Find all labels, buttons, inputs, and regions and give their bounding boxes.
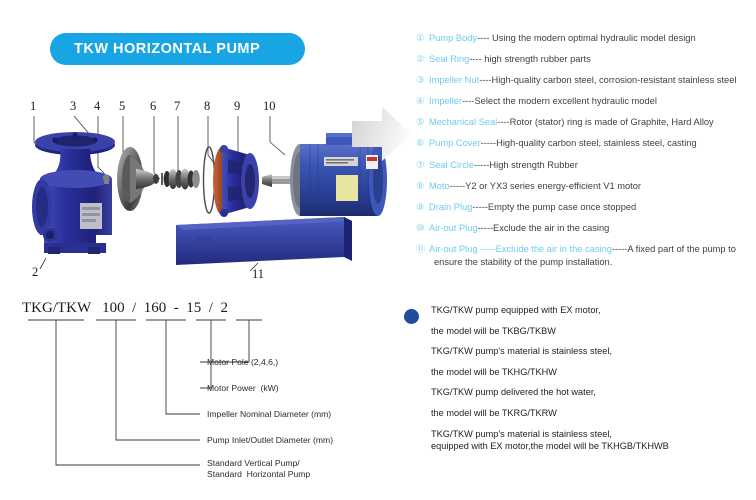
bullet-icon xyxy=(404,309,419,324)
feature-name: Pump Body xyxy=(429,33,477,44)
model-leader-label: Motor Pole (2,4,6,) xyxy=(207,357,278,369)
mechanical-seal-part xyxy=(161,169,200,190)
feature-number: ⑩ xyxy=(416,223,429,234)
feature-desc: ----Select the modern excellent hydrauli… xyxy=(462,96,657,107)
pump-spec-sheet: TKW HORIZONTAL PUMP xyxy=(0,0,756,500)
feature-item: ⑪ Air-out Plug -----Exclude the air in t… xyxy=(416,244,752,268)
feature-item: ⑧ Moto -----Y2 or YX3 series energy-effi… xyxy=(416,181,752,192)
feature-desc: -----High-quality carbon steel, stainles… xyxy=(481,138,697,149)
model-leader-label: Standard Horizontal Pump xyxy=(207,469,310,481)
note-line: TKG/TKW pump's material is stainless ste… xyxy=(431,346,752,357)
feature-list: ① Pump Body ---- Using the modern optima… xyxy=(416,33,752,278)
exploded-pump-diagram: 1 3 4 5 6 7 8 9 10 2 11 xyxy=(0,95,400,290)
feature-desc: -----Exclude the air in the casing xyxy=(478,223,610,234)
callout-number: 9 xyxy=(234,99,240,114)
feature-name: Seal Circle xyxy=(429,160,474,171)
note-line: the model will be TKHG/TKHW xyxy=(431,367,752,378)
note-line: TKG/TKW pump's material is stainless ste… xyxy=(431,429,752,440)
feature-item: ① Pump Body ---- Using the modern optima… xyxy=(416,33,752,44)
feature-number: ② xyxy=(416,54,429,65)
feature-desc: -----A fixed part of the pump to xyxy=(612,244,736,254)
feature-name: Air-out Plug xyxy=(429,223,478,234)
page-title: TKW HORIZONTAL PUMP xyxy=(74,41,260,57)
feature-name: Air-out Plug -----Exclude the air in the… xyxy=(429,244,612,254)
model-leader-label: Standard Vertical Pump/ xyxy=(207,458,300,470)
feature-item: ⑩ Air-out Plug -----Exclude the air in t… xyxy=(416,223,752,234)
feature-name: Impeller xyxy=(429,96,462,107)
feature-number: ④ xyxy=(416,96,429,107)
feature-name: Moto xyxy=(429,181,450,192)
callout-number: 2 xyxy=(32,265,38,280)
callout-number: 11 xyxy=(252,267,264,282)
model-leader-label: Impeller Nominal Diameter (mm) xyxy=(207,409,331,421)
feature-desc: ---- high strength rubber parts xyxy=(469,54,590,65)
feature-name: Seal Ring xyxy=(429,54,469,65)
feature-desc: ----High-quality carbon steel, corrosion… xyxy=(479,75,736,86)
model-leader-lines xyxy=(0,295,400,500)
base-plate-part xyxy=(176,217,352,265)
model-designation-diagram: TKG/TKW 100 / 160 - 15 / 2 xyxy=(0,295,400,500)
feature-desc: -----High strength Rubber xyxy=(474,160,578,171)
callout-number: 8 xyxy=(204,99,210,114)
feature-number: ⑤ xyxy=(416,117,429,128)
note-line: TKG/TKW pump equipped with EX motor, xyxy=(431,305,752,316)
callout-number: 5 xyxy=(119,99,125,114)
callout-number: 1 xyxy=(30,99,36,114)
title-banner: TKW HORIZONTAL PUMP xyxy=(50,33,305,65)
note-line: TKG/TKW pump delivered the hot water, xyxy=(431,387,752,398)
feature-item: ③ Impeller Nut ----High-quality carbon s… xyxy=(416,75,752,86)
model-leader-label: Motor Power (kW) xyxy=(207,383,279,395)
pump-cover-part xyxy=(213,145,259,217)
model-variant-notes: TKG/TKW pump equipped with EX motor, the… xyxy=(404,305,752,462)
note-line: equipped with EX motor,the model will be… xyxy=(431,441,752,452)
callout-number: 10 xyxy=(263,99,276,114)
feature-desc-continuation: ensure the stability of the pump install… xyxy=(434,257,736,268)
feature-name: Impeller Nut xyxy=(429,75,479,86)
feature-number: ⑧ xyxy=(416,181,429,192)
callout-number: 3 xyxy=(70,99,76,114)
feature-number: ⑥ xyxy=(416,138,429,149)
feature-item: ⑦ Seal Circle -----High strength Rubber xyxy=(416,160,752,171)
feature-number: ⑪ xyxy=(416,244,429,255)
feature-item: ② Seal Ring ---- high strength rubber pa… xyxy=(416,54,752,65)
model-leader-label: Pump Inlet/Outlet Diameter (mm) xyxy=(207,435,333,447)
feature-desc: -----Y2 or YX3 series energy-efficient V… xyxy=(450,181,641,192)
feature-number: ⑨ xyxy=(416,202,429,213)
flow-arrow-icon xyxy=(352,103,414,170)
impeller-part xyxy=(117,147,159,211)
feature-item: ⑨ Drain Plug -----Empty the pump case on… xyxy=(416,202,752,213)
feature-name: Pump Cover xyxy=(429,138,481,149)
feature-name: Mechanical Seal xyxy=(429,117,497,128)
pump-body-part xyxy=(32,132,115,254)
callout-number: 7 xyxy=(174,99,180,114)
feature-number: ⑦ xyxy=(416,160,429,171)
feature-number: ③ xyxy=(416,75,429,86)
feature-item: ⑤ Mechanical Seal ----Rotor (stator) rin… xyxy=(416,117,752,128)
feature-desc: -----Empty the pump case once stopped xyxy=(472,202,636,213)
feature-item: ⑥ Pump Cover -----High-quality carbon st… xyxy=(416,138,752,149)
callout-number: 4 xyxy=(94,99,100,114)
feature-name: Drain Plug xyxy=(429,202,472,213)
note-line: the model will be TKRG/TKRW xyxy=(431,408,752,419)
note-line: the model will be TKBG/TKBW xyxy=(431,326,752,337)
feature-number: ① xyxy=(416,33,429,44)
callout-number: 6 xyxy=(150,99,156,114)
feature-desc: ---- Using the modern optimal hydraulic … xyxy=(477,33,696,44)
feature-desc: ----Rotor (stator) ring is made of Graph… xyxy=(497,117,713,128)
feature-item: ④ Impeller ----Select the modern excelle… xyxy=(416,96,752,107)
